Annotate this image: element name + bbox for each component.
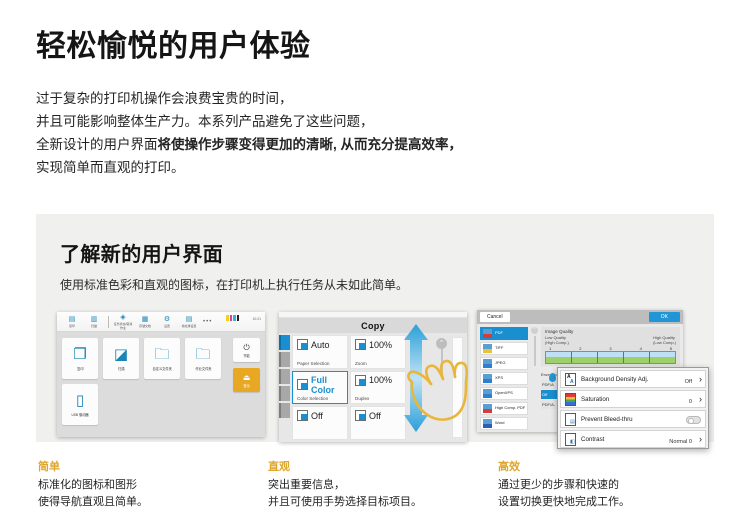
home-tile-copy[interactable]: ❐ 复印 [62,338,98,379]
gesture-arrow-area [408,335,434,440]
logout-button[interactable]: ⏏ 登出 [233,368,260,392]
file-type-label: High Comp. PDF [495,406,525,411]
tile-label: 作业文件夹 [195,366,211,371]
scrollbar-track[interactable] [441,349,443,377]
copy-icon: ❐ [73,346,86,363]
home-tile-custom-folder[interactable]: 🗀 自定义文件夹 [144,338,180,379]
toolbar-label: 设置 [157,324,177,328]
copy-tab-5[interactable] [279,403,290,418]
high-comp-pdf-icon [483,404,492,413]
toolbar-item-stored-docs[interactable]: ▦ 存储文档 [134,316,156,328]
setting-label: Background Density Adj. [581,376,648,383]
toggle-switch[interactable] [686,416,701,424]
settings-icon: ⚙ [156,316,178,324]
hero-body: 过于复杂的打印机操作会浪费宝贵的时间， 并且可能影响整体生产力。本系列产品避免了… [36,87,750,180]
hero-line-4: 实现简单而直观的打印。 [36,156,750,179]
file-type-label: Word [495,421,504,426]
tile-label: 自定义文件夹 [152,366,171,371]
toolbar-item-copy[interactable]: ▤ 复印 [61,316,83,328]
combine-icon [297,410,308,421]
caption-line-1: 突出重要信息， [268,477,498,494]
setting-paper-selection[interactable]: Auto Paper Selection [292,335,348,369]
toolbar-more-button[interactable]: ••• [203,319,212,325]
duplex-icon [355,375,366,386]
setting-value: 100% [369,375,392,385]
quality-endpoint-labels: Low Quality (High Comp.) High Quality (L… [545,336,676,345]
hero-line-3-normal: 全新设计的用户界面 [36,137,158,152]
toolbar-item-address-book[interactable]: ▤ 地址簿设置 [178,316,200,328]
caption-line-2: 并且可使用手势选择目标项目。 [268,494,498,511]
setting-caption: Paper Selection [297,361,329,366]
home-toolbar: ▤ 复印 ▥ 扫描 ◈ 任务状态/取消作业 ▦ 存储文档 ⚙ 设置 ▤ [57,312,265,332]
caption-line-2: 使得导航直观且简单。 [38,494,268,511]
toolbar-label: 存储文档 [135,324,155,328]
cancel-button[interactable]: Cancel [480,312,510,322]
usb-drive-icon: ▯ [76,392,84,409]
copy-scrollbar[interactable]: ⌃ [436,335,450,440]
quality-high-label: High Quality (Low Comp.) [653,336,676,345]
quality-tick: 3 [609,346,611,351]
file-type-label: JPEG [495,361,505,366]
home-side-buttons: ⏻ 节能 ⏏ 登出 [233,338,260,398]
caption-heading: 简单 [38,458,268,474]
caption-line-1: 通过更少的步骤和快速的 [498,477,728,494]
staple-icon [355,410,366,421]
setting-value: Normal 0 [669,439,692,445]
setting-value: 100% [369,340,392,350]
stored-docs-icon: ▦ [134,316,156,324]
copy-settings-col-1: Auto Paper Selection Full Color Color Se… [292,335,348,440]
copy-settings-col-2: 100% Zoom 100% Duplex Off [350,335,406,440]
page-title: 轻松愉悦的用户体验 [36,30,750,65]
file-type-tiff[interactable]: TIFF [480,342,528,355]
setting-label: Prevent Bleed-thru [581,416,633,423]
file-type-pdf[interactable]: PDF [480,327,528,340]
quality-low-label: Low Quality (High Comp.) [545,336,569,345]
tile-label: USB 驱动器 [71,412,88,417]
toolbar-label: 地址簿设置 [179,324,199,328]
home-tile-area: ❐ 复印 ◪ 扫描 🗀 自定义文件夹 🗀 作业文件夹 ▯ USB 驱动器 [57,332,265,437]
tile-label: 复印 [77,366,83,371]
pdf-icon [483,329,492,338]
hero-line-3: 全新设计的用户界面将使操作步骤变得更加的清晰, 从而充分提高效率， [36,133,750,156]
caption-line-2: 设置切换更快地完成工作。 [498,494,728,511]
file-type-openxps[interactable]: OpenXPS [480,387,528,400]
chevron-right-icon: › [699,435,702,444]
image-adjust-settings-card[interactable]: AA Background Density Adj. Off › Saturat… [557,367,709,449]
toner-level-indicator [226,315,239,321]
setting-label: Saturation [581,396,609,403]
hero-line-2: 并且可能影响整体生产力。本系列产品避免了这些问题， [36,110,750,133]
jpeg-icon [483,359,492,368]
toolbar-item-settings[interactable]: ⚙ 设置 [156,316,178,328]
copy-tab-3[interactable] [279,369,290,384]
folder-icon: 🗀 [154,346,169,363]
setting-zoom[interactable]: 100% Zoom [350,335,406,369]
power-save-button[interactable]: ⏻ 节能 [233,338,260,362]
caption-heading: 直观 [268,458,498,474]
power-icon: ⏻ [243,343,249,352]
file-type-label: XPS [495,376,503,381]
copy-right-panel [452,337,463,438]
quality-tick: 1 [549,346,551,351]
chevron-up-icon[interactable]: ⌃ [531,327,538,334]
copy-tab-2[interactable] [279,352,290,367]
format-scrollbar[interactable]: ⌃ [531,327,538,429]
copy-settings-grid: Auto Paper Selection Full Color Color Se… [290,333,467,442]
setting-value: Off [311,411,323,421]
copy-tab-rail [279,333,290,442]
side-button-label: 登出 [243,383,249,388]
hero-line-3-bold: 将使操作步骤变得更加的清晰, 从而充分提高效率， [158,137,463,152]
caption-text: 通过更少的步骤和快速的 设置切换更快地完成工作。 [498,477,728,511]
hero-line-1: 过于复杂的打印机操作会浪费宝贵的时间， [36,87,750,110]
copy-body: Auto Paper Selection Full Color Color Se… [279,333,467,442]
setting-value: Off [369,411,381,421]
setting-value: 0 [689,399,692,405]
setting-duplex[interactable]: 100% Duplex [350,371,406,405]
home-tile-scan[interactable]: ◪ 扫描 [103,338,139,379]
file-type-label: PDF [495,331,503,336]
toolbar-label: 复印 [62,324,82,328]
status-time: 10:21 [253,317,262,321]
saturation-icon [565,393,576,406]
image-quality-box: Image Quality Low Quality (High Comp.) H… [541,327,680,366]
setting-label: Contrast [581,436,604,443]
setting-caption: Zoom [355,361,367,366]
ok-button[interactable]: OK [649,312,680,322]
quality-title: Image Quality [545,329,676,334]
quality-preview-strip[interactable] [545,351,676,364]
home-tile-usb-drive[interactable]: ▯ USB 驱动器 [62,384,98,425]
setting-caption: Color Selection [297,396,328,401]
chevron-right-icon: › [699,395,702,404]
captions-row: 简单 标准化的图标和图形 使得导航直观且简单。 直观 突出重要信息， 并且可使用… [38,458,728,511]
hero-section: 轻松愉悦的用户体验 过于复杂的打印机操作会浪费宝贵的时间， 并且可能影响整体生产… [0,0,750,179]
job-folder-icon: 🗀 [195,346,210,363]
setting-row-prevent-bleed-thru[interactable]: ▤ Prevent Bleed-thru [560,410,706,428]
setting-staple[interactable]: Off [350,406,406,440]
file-type-word[interactable]: Word [480,417,528,430]
copy-tab-4[interactable] [279,386,290,401]
quality-tick: 4 [640,346,642,351]
home-tile-grid: ❐ 复印 ◪ 扫描 🗀 自定义文件夹 🗀 作业文件夹 ▯ USB 驱动器 [62,338,222,425]
xps-icon [483,374,492,383]
file-type-list: PDF TIFF JPEG XPS OpenXPS [480,327,528,429]
caption-simple: 简单 标准化的图标和图形 使得导航直观且简单。 [38,458,268,511]
quality-high-l2: (Low Comp.) [653,340,676,345]
toolbar-item-status[interactable]: ◈ 任务状态/取消作业 [112,314,134,330]
chevron-right-icon: › [699,375,702,384]
contrast-icon: ◧ [565,433,576,446]
file-type-label: OpenXPS [495,391,513,396]
quality-tick: 5 [670,346,672,351]
scrollbar-track[interactable] [534,336,536,366]
status-icon: ◈ [112,314,134,322]
file-type-xps[interactable]: XPS [480,372,528,385]
quality-tick: 2 [579,346,581,351]
paper-icon [297,339,308,350]
bleed-icon: ▤ [565,413,576,426]
setting-value: Full Color [311,375,343,395]
word-icon [483,419,492,428]
setting-row-saturation[interactable]: Saturation 0 › [560,390,706,408]
address-book-icon: ▤ [178,316,200,324]
quality-slider-handle[interactable] [549,373,556,382]
panel-title: 了解新的用户界面 [36,214,714,267]
copy-screen-screenshot[interactable]: Copy Auto Paper Selection [279,312,467,442]
setting-value: Off [685,379,692,385]
file-type-high-comp-pdf[interactable]: High Comp. PDF [480,402,528,415]
scan-icon: ▥ [83,316,105,324]
caption-heading: 高效 [498,458,728,474]
printer-home-screenshot[interactable]: ▤ 复印 ▥ 扫描 ◈ 任务状态/取消作业 ▦ 存储文档 ⚙ 设置 ▤ [57,312,265,437]
caption-text: 突出重要信息， 并且可使用手势选择目标项目。 [268,477,498,511]
caption-intuitive: 直观 突出重要信息， 并且可使用手势选择目标项目。 [268,458,498,511]
toolbar-label: 扫描 [84,324,104,328]
file-type-jpeg[interactable]: JPEG [480,357,528,370]
color-icon [297,379,308,390]
panel-subtitle: 使用标准色彩和直观的图标，在打印机上执行任务从未如此简单。 [36,267,714,293]
tile-label: 扫描 [118,366,124,371]
openxps-icon [483,389,492,398]
scan-icon: ◪ [114,346,128,363]
side-button-label: 节能 [243,353,249,358]
logout-icon: ⏏ [243,373,251,382]
tiff-icon [483,344,492,353]
toolbar-item-scan[interactable]: ▥ 扫描 [83,316,105,328]
caption-text: 标准化的图标和图形 使得导航直观且简单。 [38,477,268,511]
setting-row-contrast[interactable]: ◧ Contrast Normal 0 › [560,430,706,448]
zoom-icon [355,339,366,350]
copy-icon: ▤ [61,316,83,324]
file-type-label: TIFF [495,346,503,351]
setting-combine[interactable]: Off [292,406,348,440]
copy-title: Copy [279,318,467,333]
toolbar-label: 任务状态/取消作业 [113,322,133,329]
setting-caption: Duplex [355,396,369,401]
home-tile-job-folder[interactable]: 🗀 作业文件夹 [185,338,221,379]
quality-low-l2: (High Comp.) [545,340,569,345]
format-dialog-bar: Cancel OK [477,310,683,324]
setting-row-background-density[interactable]: AA Background Density Adj. Off › [560,370,706,388]
setting-value: Auto [311,340,330,350]
copy-tab-active[interactable] [279,335,290,350]
caption-efficient: 高效 通过更少的步骤和快速的 设置切换更快地完成工作。 [498,458,728,511]
density-icon: AA [565,373,576,386]
setting-color-selection[interactable]: Full Color Color Selection [292,371,348,405]
chevron-up-icon[interactable]: ⌃ [436,338,447,349]
toolbar-divider [108,316,109,328]
caption-line-1: 标准化的图标和图形 [38,477,268,494]
